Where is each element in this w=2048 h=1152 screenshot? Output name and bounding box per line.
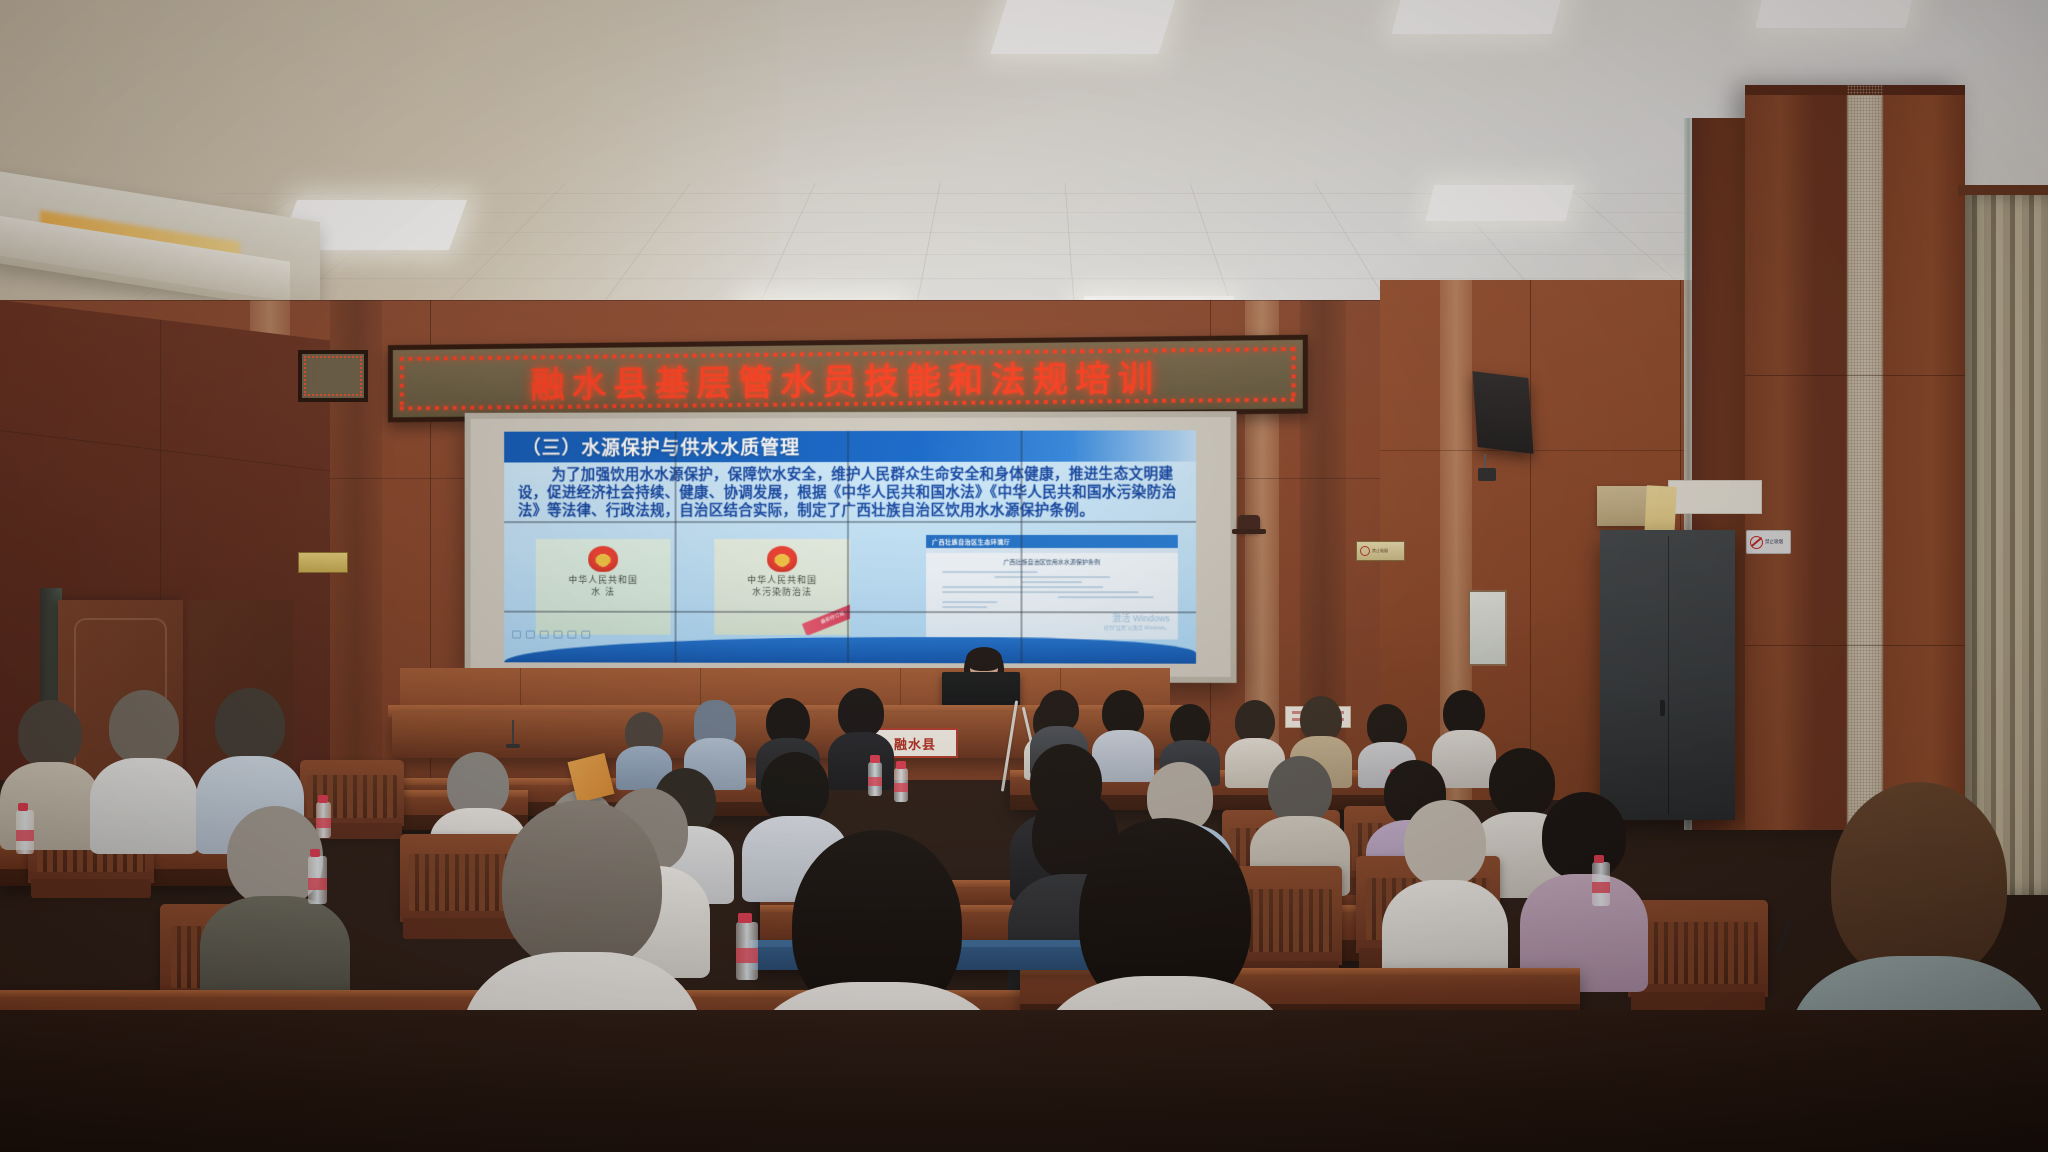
audience-member <box>1382 800 1508 996</box>
water-bottle <box>894 768 908 802</box>
no-smoking-sign-label: 禁止吸烟 <box>1765 540 1783 545</box>
podium-sign-text: 融水县 <box>894 734 936 753</box>
videowall-seam <box>847 431 849 663</box>
regulation-website-screenshot: 广西壮族自治区生态环境厅 广西壮族自治区饮用水水源保护条例 激活 Windows… <box>926 535 1178 640</box>
wall-plaque <box>298 552 348 573</box>
ceiling-speaker <box>1472 371 1533 454</box>
video-wall: （三）水源保护与供水水质管理 为了加强饮用水水源保护，保障饮水安全，维护人民群众… <box>465 411 1237 683</box>
audience-member <box>90 690 198 854</box>
slide-figures: 中华人民共和国 水 法 中华人民共和国 水污染防治法 最新修订版 广西壮族自治区… <box>520 539 1180 640</box>
no-smoking-label: 禁止吸烟 <box>1372 549 1388 554</box>
conference-room-photo: 融水县基层管水员技能和法规培训 （三）水源保护与供水水质管理 为了加强饮用水水源… <box>0 0 2048 1152</box>
ceiling-light <box>991 0 1178 54</box>
slide-title-text: （三）水源保护与供水水质管理 <box>522 433 800 460</box>
videowall-seam <box>675 431 677 662</box>
videowall-seam <box>504 521 1196 523</box>
wall-window <box>1468 590 1507 666</box>
audience-member <box>0 700 100 850</box>
ceiling-light <box>1755 0 1914 28</box>
audience-member <box>200 806 350 1016</box>
book-corner-band: 最新修订版 <box>802 601 850 635</box>
led-banner: 融水县基层管水员技能和法规培训 <box>388 335 1308 423</box>
ceiling-light <box>1426 185 1575 221</box>
slide-footer-wave <box>504 636 1196 663</box>
windows-activation-watermark: 激活 Windows 转到"设置"以激活 Windows。 <box>1104 613 1170 633</box>
no-smoking-icon <box>1750 536 1763 549</box>
wall-notice-frame <box>298 350 368 402</box>
water-bottle <box>16 810 34 854</box>
slide-title-bar: （三）水源保护与供水水质管理 <box>504 430 1196 462</box>
no-smoking-icon <box>1360 546 1370 556</box>
book-title-line2: 水 法 <box>536 587 671 599</box>
website-nav-bar <box>926 548 1178 553</box>
no-smoking-plaque: 禁止吸烟 <box>1356 541 1405 561</box>
law-book-water-law: 中华人民共和国 水 法 <box>536 539 671 635</box>
book-title-line1: 中华人民共和国 <box>714 575 850 587</box>
floor <box>0 1010 2048 1152</box>
wall-notice-board <box>1668 480 1762 514</box>
water-bottle <box>1592 862 1610 906</box>
pillar-perforated-strip <box>1847 85 1883 830</box>
national-emblem-icon <box>588 546 618 572</box>
law-book-water-pollution-law: 中华人民共和国 水污染防治法 最新修订版 <box>714 539 850 635</box>
book-title-line2: 水污染防治法 <box>714 587 850 599</box>
no-smoking-sign: 禁止吸烟 <box>1746 530 1791 554</box>
storage-cabinet[interactable] <box>1600 530 1735 820</box>
water-bottle <box>868 762 882 796</box>
wall-mic <box>1478 468 1496 481</box>
audience-member <box>1520 792 1648 992</box>
book-band-text: 最新修订版 <box>802 601 850 635</box>
water-bottle <box>308 856 327 904</box>
water-bottle <box>736 922 758 980</box>
website-header-title: 广西壮族自治区生态环境厅 <box>932 537 1010 546</box>
wood-pillar <box>1745 85 1965 830</box>
presentation-slide: （三）水源保护与供水水质管理 为了加强饮用水水源保护，保障饮水安全，维护人民群众… <box>504 430 1196 663</box>
book-title-line1: 中华人民共和国 <box>536 575 671 587</box>
cabinet-handle[interactable] <box>1660 700 1665 716</box>
videowall-seam <box>1020 431 1022 664</box>
ptz-camera <box>1238 515 1260 531</box>
taskbar-icons <box>512 631 590 639</box>
website-document-title: 广西壮族自治区饮用水水源保护条例 <box>926 557 1178 566</box>
slide-body-text: 为了加强饮用水水源保护，保障饮水安全，维护人民群众生命安全和身体健康，推进生态文… <box>518 466 1182 521</box>
led-banner-text: 融水县基层管水员技能和法规培训 <box>393 340 1303 418</box>
website-header-bar: 广西壮族自治区生态环境厅 <box>926 535 1178 548</box>
ceiling-light <box>1392 0 1565 34</box>
national-emblem-icon <box>767 546 797 572</box>
